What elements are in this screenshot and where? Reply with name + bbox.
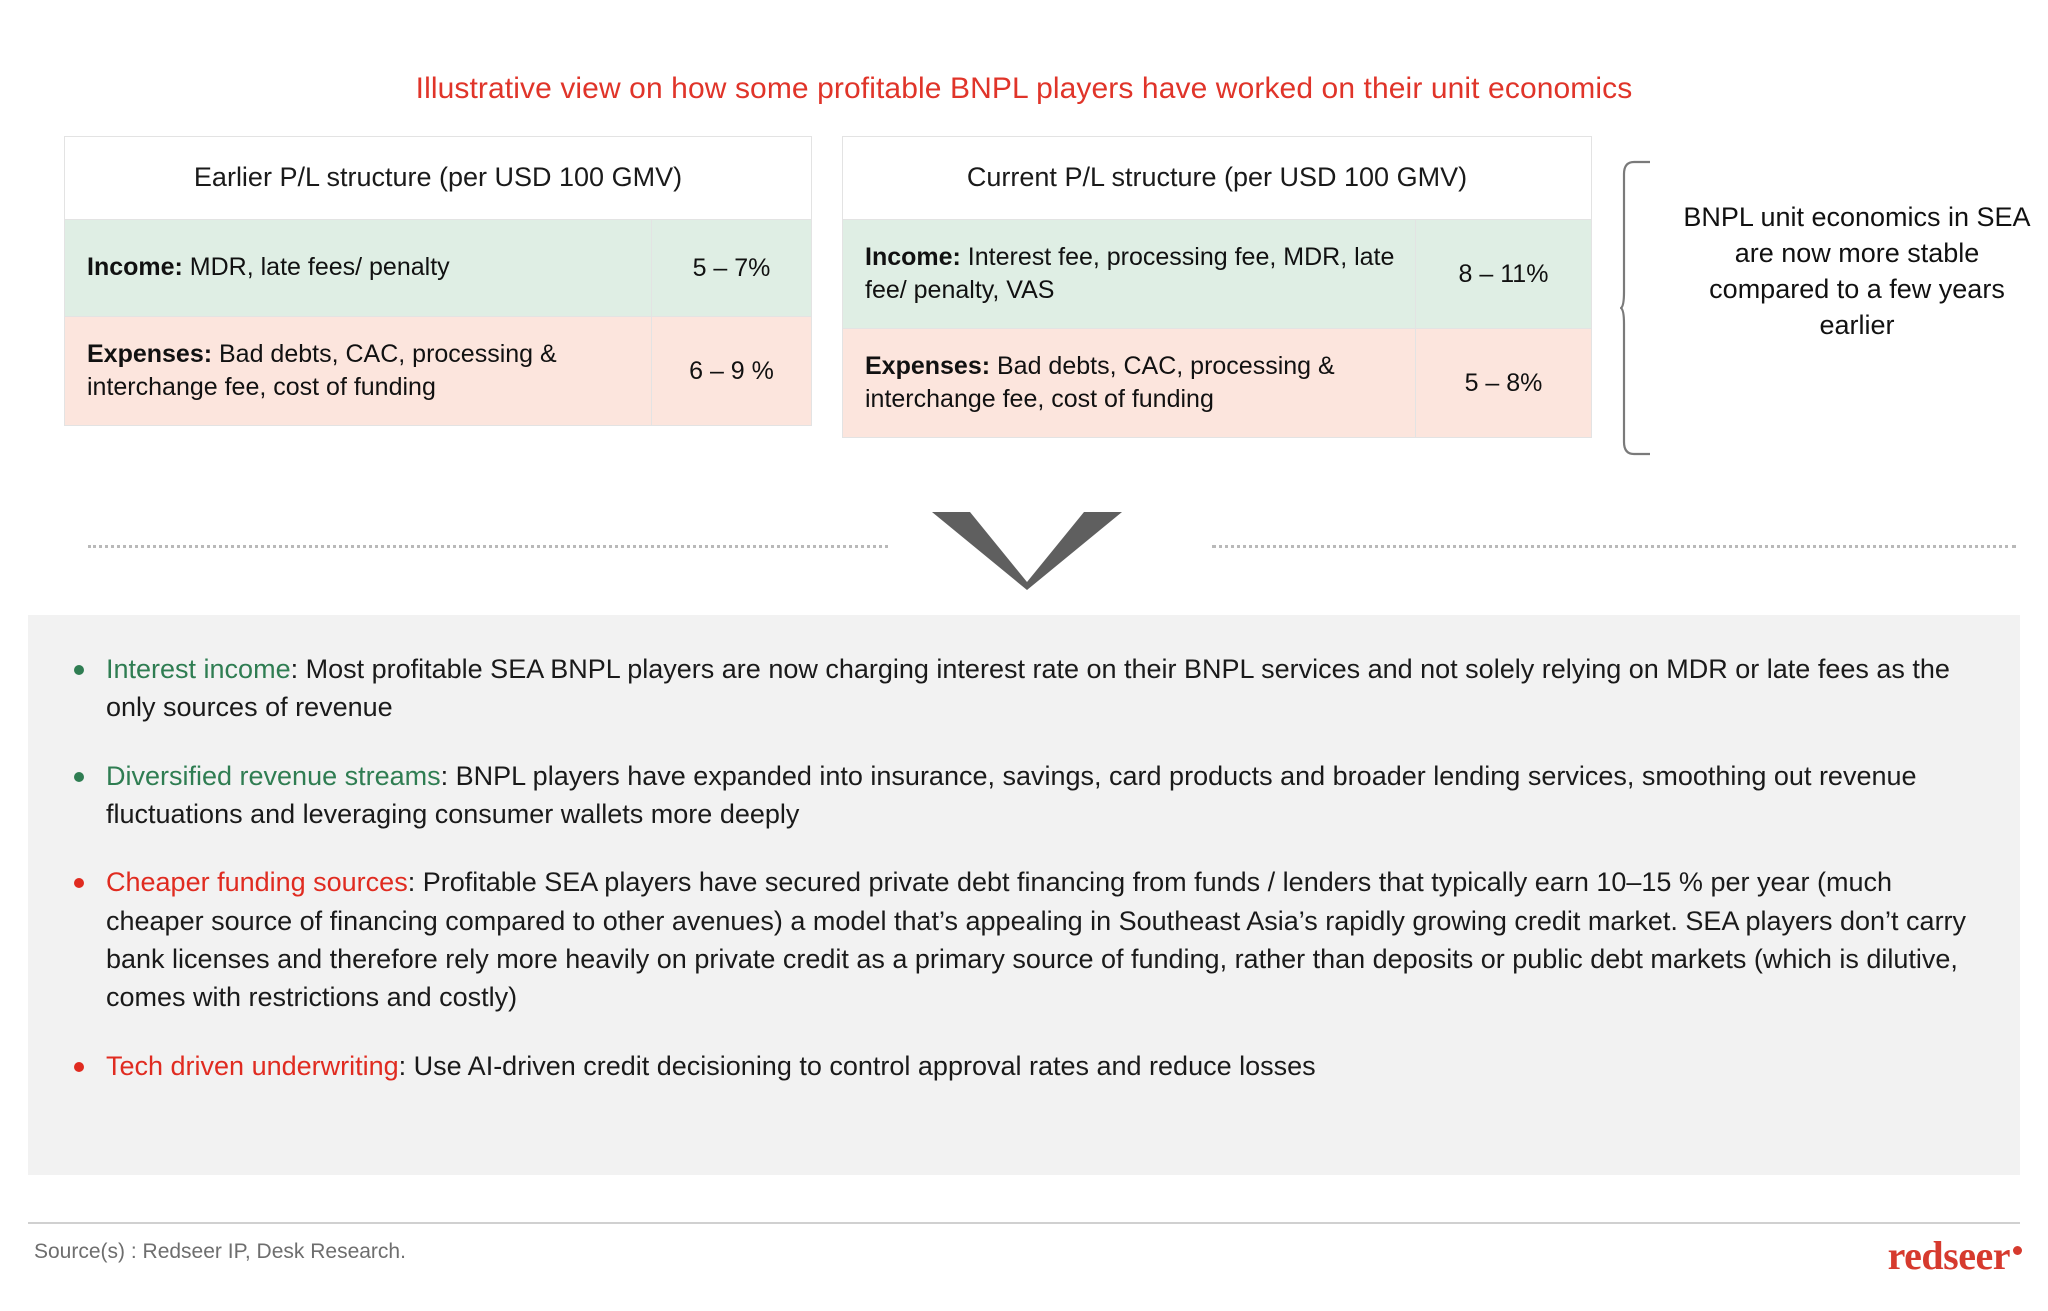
current-expense-desc: Expenses: Bad debts, CAC, processing & i…: [843, 329, 1415, 437]
current-income-desc: Income: Interest fee, processing fee, MD…: [843, 220, 1415, 328]
bullet-lead: Interest income: [106, 654, 291, 684]
footer-divider: [28, 1222, 2020, 1224]
current-expense-value: 5 – 8%: [1415, 329, 1591, 437]
list-item: Cheaper funding sources: Profitable SEA …: [74, 863, 1974, 1016]
source-text: Source(s) : Redseer IP, Desk Research.: [34, 1240, 406, 1264]
bullet-dot-icon: [74, 1062, 84, 1072]
bullet-lead: Tech driven underwriting: [106, 1051, 399, 1081]
current-income-label: Income:: [865, 243, 961, 271]
page-title: Illustrative view on how some profitable…: [0, 72, 2048, 106]
earlier-expense-label: Expenses:: [87, 340, 212, 368]
current-expense-row: Expenses: Bad debts, CAC, processing & i…: [843, 329, 1591, 437]
current-table-header: Current P/L structure (per USD 100 GMV): [843, 137, 1591, 220]
bullet-text: Diversified revenue streams: BNPL player…: [106, 757, 1974, 834]
bullet-dot-icon: [74, 878, 84, 888]
earlier-income-detail: MDR, late fees/ penalty: [183, 253, 450, 281]
earlier-income-value: 5 – 7%: [651, 220, 811, 316]
bullet-lead: Cheaper funding sources: [106, 867, 408, 897]
bullet-dot-icon: [74, 665, 84, 675]
bullet-text: Cheaper funding sources: Profitable SEA …: [106, 863, 1974, 1016]
current-income-row: Income: Interest fee, processing fee, MD…: [843, 220, 1591, 329]
earlier-expense-value: 6 – 9 %: [651, 317, 811, 425]
insights-panel: Interest income: Most profitable SEA BNP…: [28, 615, 2020, 1175]
current-expense-label: Expenses:: [865, 352, 990, 380]
list-item: Interest income: Most profitable SEA BNP…: [74, 650, 1974, 727]
list-item: Diversified revenue streams: BNPL player…: [74, 757, 1974, 834]
curly-brace-icon: [1620, 160, 1654, 456]
current-income-value: 8 – 11%: [1415, 220, 1591, 328]
current-pl-table: Current P/L structure (per USD 100 GMV) …: [842, 136, 1592, 438]
earlier-income-desc: Income: MDR, late fees/ penalty: [65, 220, 651, 316]
earlier-table-header: Earlier P/L structure (per USD 100 GMV): [65, 137, 811, 220]
logo-text: redseer: [1888, 1233, 2010, 1278]
earlier-income-row: Income: MDR, late fees/ penalty 5 – 7%: [65, 220, 811, 317]
bullet-text: Interest income: Most profitable SEA BNP…: [106, 650, 1974, 727]
slide-root: Illustrative view on how some profitable…: [0, 0, 2048, 1311]
bullet-body: : Use AI-driven credit decisioning to co…: [399, 1051, 1316, 1081]
bullet-body: : Most profitable SEA BNPL players are n…: [106, 654, 1950, 722]
bullet-dot-icon: [74, 772, 84, 782]
insights-bullet-list: Interest income: Most profitable SEA BNP…: [28, 615, 2020, 1085]
earlier-income-label: Income:: [87, 253, 183, 281]
bullet-lead: Diversified revenue streams: [106, 761, 441, 791]
earlier-expense-row: Expenses: Bad debts, CAC, processing & i…: [65, 317, 811, 425]
list-item: Tech driven underwriting: Use AI-driven …: [74, 1047, 1974, 1085]
divider-dashed-left: [88, 545, 888, 548]
redseer-logo: redseer: [1888, 1232, 2022, 1279]
earlier-pl-table: Earlier P/L structure (per USD 100 GMV) …: [64, 136, 812, 426]
divider-dashed-right: [1212, 545, 2016, 548]
bullet-text: Tech driven underwriting: Use AI-driven …: [106, 1047, 1974, 1085]
brace-note-text: BNPL unit economics in SEA are now more …: [1672, 200, 2042, 344]
earlier-expense-desc: Expenses: Bad debts, CAC, processing & i…: [65, 317, 651, 425]
logo-dot-icon: [2013, 1246, 2022, 1255]
chevron-down-icon: [932, 510, 1122, 590]
